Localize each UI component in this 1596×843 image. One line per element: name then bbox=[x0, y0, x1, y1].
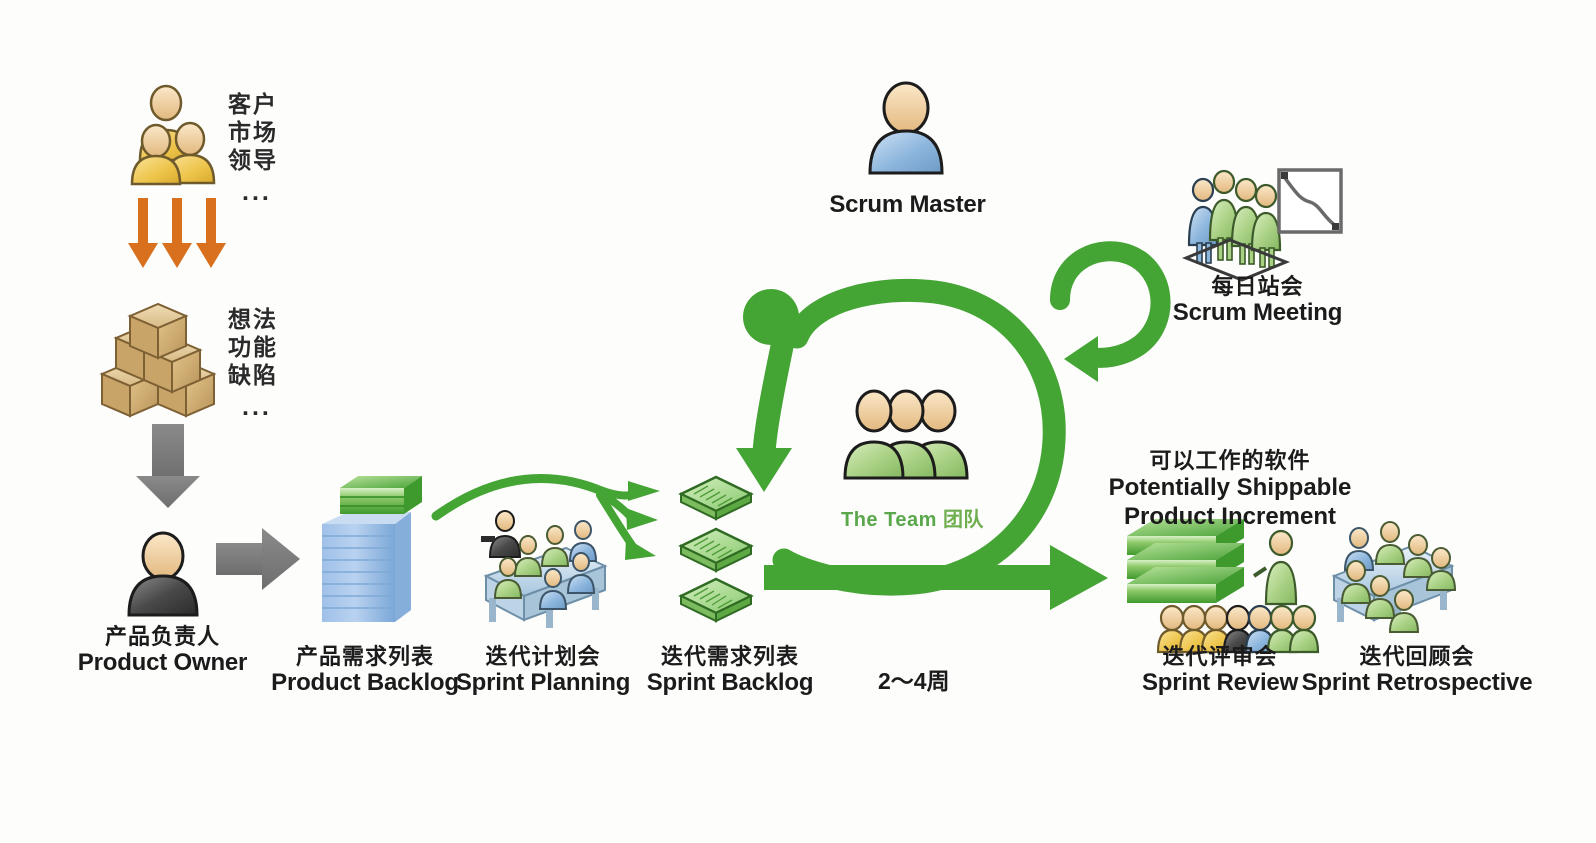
sprint-planning-zh: 迭代计划会 bbox=[438, 645, 648, 670]
person-blue-icon bbox=[870, 83, 942, 173]
sprint-duration-label: 2～4周 bbox=[878, 662, 950, 696]
blue-stack-with-green-top-icon bbox=[322, 476, 422, 622]
product-owner-en: Product Owner bbox=[55, 650, 270, 677]
stakeholders-col1-char3: 领 bbox=[228, 146, 251, 174]
inputs-col1-char1: 想 bbox=[228, 305, 251, 333]
gray-down-arrow-icon bbox=[136, 424, 200, 508]
team-label-en: The Team bbox=[841, 509, 937, 531]
boxes-stack-icon bbox=[102, 304, 214, 416]
standup-group-icon bbox=[1186, 171, 1286, 280]
increment-en-line1: Potentially Shippable bbox=[1085, 474, 1375, 503]
inputs-col2-char2: 能 bbox=[253, 333, 276, 361]
green-curved-split-arrow-icon bbox=[436, 479, 660, 561]
burndown-chart-icon bbox=[1279, 170, 1341, 232]
green-circular-sprint-loop-icon bbox=[736, 289, 1054, 584]
retro-table-icon bbox=[1334, 522, 1455, 632]
increment-zh: 可以工作的软件 bbox=[1085, 448, 1375, 474]
inputs-col2-char1: 法 bbox=[253, 305, 276, 333]
product-owner-zh: 产品负责人 bbox=[55, 625, 270, 650]
increment-en-line2: Product Increment bbox=[1085, 503, 1375, 532]
stakeholders-col1-char1: 客 bbox=[228, 90, 251, 118]
stakeholders-col2-char2: 场 bbox=[253, 118, 276, 146]
inputs-col1-char2: 功 bbox=[228, 333, 251, 361]
sprint-backlog-zh: 迭代需求列表 bbox=[625, 645, 835, 670]
three-orange-down-arrows-icon bbox=[128, 198, 226, 268]
stakeholders-col2-char1: 户 bbox=[253, 90, 276, 118]
inputs-col2-char3: 陷 bbox=[253, 361, 276, 389]
scrum-diagram-canvas: 客 市 领 户 场 导 ... 想 功 缺 法 能 陷 .. bbox=[0, 0, 1596, 843]
person-dark-icon bbox=[129, 533, 197, 615]
scrum-master-caption: Scrum Master bbox=[800, 192, 1015, 219]
sprint-review-caption: 迭代评审会 Sprint Review bbox=[1120, 645, 1320, 697]
sprint-review-en: Sprint Review bbox=[1120, 670, 1320, 697]
sprint-backlog-en: Sprint Backlog bbox=[625, 670, 835, 697]
stakeholders-label: 客 市 领 户 场 导 ... bbox=[228, 90, 276, 207]
gray-right-arrow-icon bbox=[216, 528, 300, 590]
product-owner-caption: 产品负责人 Product Owner bbox=[55, 625, 270, 677]
people-group-yellow-icon bbox=[132, 86, 214, 184]
stakeholders-ellipsis: ... bbox=[242, 178, 276, 207]
team-label: The Team 团队 bbox=[841, 503, 984, 532]
green-document-stacks-icon bbox=[681, 477, 751, 621]
scrum-meeting-caption: 每日站会 Scrum Meeting bbox=[1160, 275, 1355, 327]
green-right-arrow-icon bbox=[764, 545, 1108, 610]
scrum-master-en: Scrum Master bbox=[800, 192, 1015, 219]
sprint-retrospective-caption: 迭代回顾会 Sprint Retrospective bbox=[1292, 645, 1542, 697]
inputs-ellipsis: ... bbox=[242, 393, 276, 422]
sprint-backlog-caption: 迭代需求列表 Sprint Backlog bbox=[625, 645, 835, 697]
sprint-retrospective-zh: 迭代回顾会 bbox=[1292, 645, 1542, 670]
scrum-meeting-en: Scrum Meeting bbox=[1160, 300, 1355, 327]
stakeholders-col1-char2: 市 bbox=[228, 118, 251, 146]
stakeholders-col2-char3: 导 bbox=[253, 146, 276, 174]
team-label-zh: 团队 bbox=[943, 509, 984, 531]
sprint-review-zh: 迭代评审会 bbox=[1120, 645, 1320, 670]
inputs-col1-char3: 缺 bbox=[228, 361, 251, 389]
sprint-planning-caption: 迭代计划会 Sprint Planning bbox=[438, 645, 648, 697]
inputs-label: 想 功 缺 法 能 陷 ... bbox=[228, 305, 276, 422]
three-people-green-icon bbox=[845, 391, 967, 478]
meeting-table-icon bbox=[481, 511, 605, 628]
scrum-meeting-zh: 每日站会 bbox=[1160, 275, 1355, 300]
increment-caption: 可以工作的软件 Potentially Shippable Product In… bbox=[1085, 448, 1375, 532]
sprint-planning-en: Sprint Planning bbox=[438, 670, 648, 697]
green-small-loop-arrow-icon bbox=[1060, 251, 1161, 382]
sprint-retrospective-en: Sprint Retrospective bbox=[1292, 670, 1542, 697]
